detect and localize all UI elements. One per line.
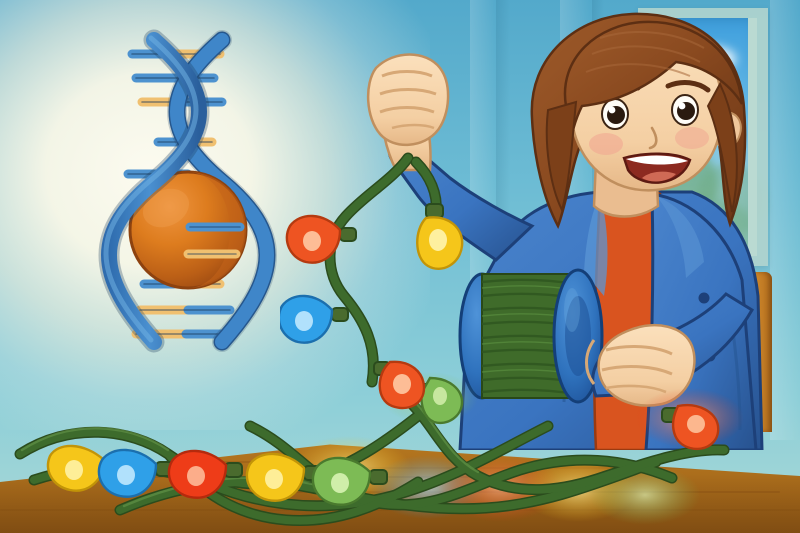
dna-double-helix — [62, 22, 312, 362]
bulb-held-yellow — [390, 186, 478, 269]
left-hand-fist — [368, 55, 448, 145]
bulb-low-red — [374, 362, 424, 408]
jacket-button — [699, 293, 710, 304]
hanging-light-string — [280, 150, 510, 410]
eye-left — [602, 99, 628, 129]
eye-right — [672, 95, 698, 125]
cheek-left — [589, 133, 623, 155]
bulb-mid-blue — [280, 296, 348, 343]
illustration-scene: Histone The protein around which DNA wra… — [0, 0, 800, 533]
cheek-right — [675, 127, 709, 149]
